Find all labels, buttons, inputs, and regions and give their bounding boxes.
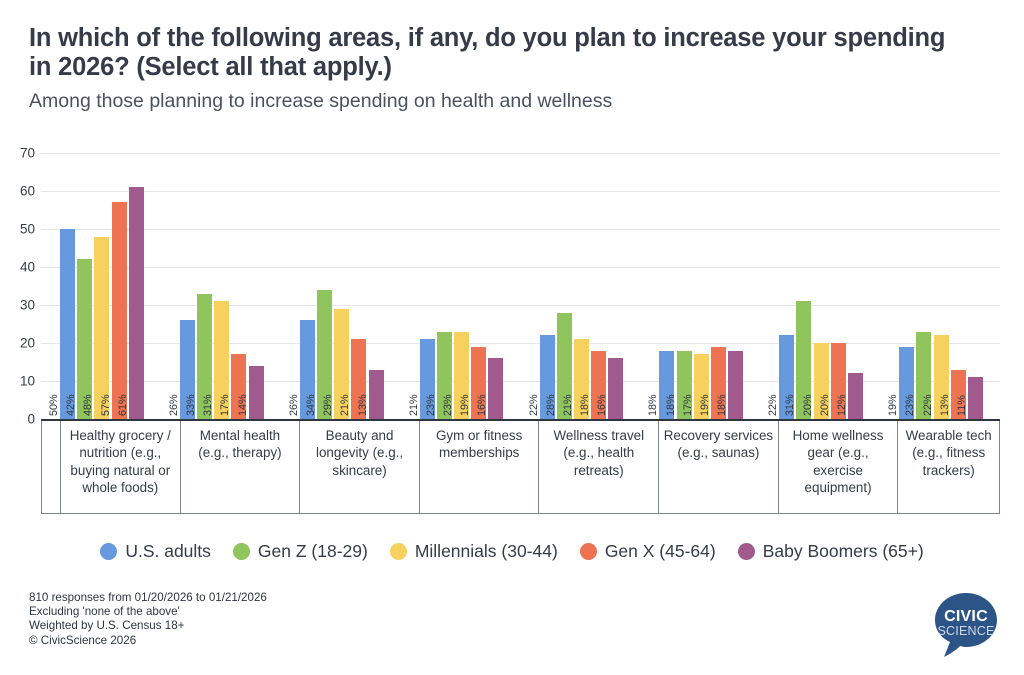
bar-value-label: 61%	[117, 394, 129, 416]
bar-value-label: 16%	[596, 394, 608, 416]
legend-label: Millennials (30-44)	[415, 541, 558, 562]
bar-value-label: 22%	[767, 394, 779, 416]
bar-value-label: 23%	[425, 394, 437, 416]
bar-value-label: 20%	[819, 394, 831, 416]
bar-value-label: 57%	[100, 394, 112, 416]
y-axis-tick-label: 0	[27, 412, 35, 427]
legend-item[interactable]: Gen X (45-64)	[580, 541, 716, 562]
y-axis: 010203040506070	[0, 0, 41, 675]
bar-value-label: 19%	[887, 394, 899, 416]
y-axis-tick-label: 40	[20, 260, 35, 275]
bar-value-label: 16%	[476, 394, 488, 416]
bar-value-label: 34%	[305, 394, 317, 416]
bar[interactable]: 11%	[968, 377, 983, 419]
footnote-copyright: © CivicScience 2026	[29, 634, 267, 648]
bar-value-label: 18%	[665, 394, 677, 416]
bar-value-label: 18%	[716, 394, 728, 416]
category-label: Beauty and longevity (e.g., skincare)	[300, 421, 420, 513]
category-label: Wearable tech (e.g., fitness trackers)	[898, 421, 999, 513]
civicscience-logo: CIVIC SCIENCE	[930, 589, 1002, 661]
bar-value-label: 22%	[922, 394, 934, 416]
bar-value-label: 23%	[442, 394, 454, 416]
bar-value-label: 31%	[784, 394, 796, 416]
legend-item[interactable]: Gen Z (18-29)	[233, 541, 368, 562]
y-axis-tick-label: 50	[20, 222, 35, 237]
bar-value-label: 26%	[288, 394, 300, 416]
footnote-excluding: Excluding 'none of the above'	[29, 605, 267, 619]
chart-footnotes: 810 responses from 01/20/2026 to 01/21/2…	[29, 591, 267, 648]
bar-group: 26%33%31%17%14%	[161, 153, 281, 419]
y-axis-tick-label: 70	[20, 146, 35, 161]
legend-color-swatch	[100, 543, 117, 560]
category-label: Home wellness gear (e.g., exercise equip…	[779, 421, 899, 513]
bar-value-label: 13%	[939, 394, 951, 416]
speech-bubble-icon: CIVIC SCIENCE	[930, 589, 1002, 661]
y-axis-tick-label: 20	[20, 336, 35, 351]
y-axis-tick-label: 10	[20, 374, 35, 389]
bar-group: 22%31%20%20%12%	[760, 153, 880, 419]
bar-value-label: 29%	[322, 394, 334, 416]
bar[interactable]: 16%	[488, 358, 503, 419]
bar-value-label: 14%	[237, 394, 249, 416]
bar[interactable]: 13%	[369, 370, 384, 419]
bar-group: 18%18%17%19%18%	[640, 153, 760, 419]
svg-text:SCIENCE: SCIENCE	[938, 624, 995, 638]
category-label: Healthy grocery / nutrition (e.g., buyin…	[61, 421, 181, 513]
bar-value-label: 50%	[48, 394, 60, 416]
legend-item[interactable]: U.S. adults	[100, 541, 211, 562]
bar-group: 21%23%23%19%16%	[401, 153, 521, 419]
legend-color-swatch	[390, 543, 407, 560]
bar-group: 19%23%22%13%11%	[880, 153, 1000, 419]
bar-value-label: 21%	[408, 394, 420, 416]
legend-color-swatch	[233, 543, 250, 560]
plot-wrapper: 010203040506070 50%42%48%57%61%26%33%31%…	[0, 0, 1024, 675]
y-axis-tick-label: 30	[20, 298, 35, 313]
bar[interactable]: 61%	[129, 187, 144, 419]
bar-value-label: 19%	[459, 394, 471, 416]
plot-area: 50%42%48%57%61%26%33%31%17%14%26%34%29%2…	[41, 153, 1000, 419]
bar-value-label: 18%	[579, 394, 591, 416]
bar-value-label: 17%	[219, 394, 231, 416]
bar-value-label: 23%	[904, 394, 916, 416]
bar-value-label: 42%	[65, 394, 77, 416]
bar-value-label: 31%	[202, 394, 214, 416]
category-label: Mental health (e.g., therapy)	[181, 421, 301, 513]
legend-label: U.S. adults	[125, 541, 211, 562]
bar-value-label: 48%	[82, 394, 94, 416]
bar-value-label: 18%	[647, 394, 659, 416]
legend-label: Gen Z (18-29)	[258, 541, 368, 562]
bar-value-label: 17%	[682, 394, 694, 416]
category-label: Gym or fitness memberships	[420, 421, 540, 513]
svg-text:CIVIC: CIVIC	[944, 608, 988, 625]
bar-group: 22%28%21%18%16%	[521, 153, 641, 419]
legend-item[interactable]: Baby Boomers (65+)	[738, 541, 924, 562]
bar[interactable]: 12%	[848, 373, 863, 419]
bar[interactable]: 14%	[249, 366, 264, 419]
bar-value-label: 13%	[357, 394, 369, 416]
legend-label: Baby Boomers (65+)	[763, 541, 924, 562]
bar-value-label: 19%	[699, 394, 711, 416]
category-label: Recovery services (e.g., saunas)	[659, 421, 779, 513]
y-axis-tick-label: 60	[20, 184, 35, 199]
bar[interactable]: 16%	[608, 358, 623, 419]
legend-color-swatch	[580, 543, 597, 560]
legend-label: Gen X (45-64)	[605, 541, 716, 562]
bar-value-label: 21%	[562, 394, 574, 416]
bar-group: 50%42%48%57%61%	[41, 153, 161, 419]
bar[interactable]: 18%	[728, 351, 743, 419]
category-label: Wellness travel (e.g., health retreats)	[539, 421, 659, 513]
bar[interactable]: 50%	[60, 229, 75, 419]
bar-value-label: 22%	[528, 394, 540, 416]
chart-legend: U.S. adultsGen Z (18-29)Millennials (30-…	[0, 541, 1024, 562]
bar-value-label: 33%	[185, 394, 197, 416]
chart-page: In which of the following areas, if any,…	[0, 0, 1024, 675]
footnote-responses: 810 responses from 01/20/2026 to 01/21/2…	[29, 591, 267, 605]
bar-value-label: 21%	[339, 394, 351, 416]
bar-value-label: 11%	[956, 395, 968, 416]
legend-color-swatch	[738, 543, 755, 560]
bar[interactable]: 48%	[94, 237, 109, 419]
bar-value-label: 12%	[836, 394, 848, 416]
bar-value-label: 26%	[168, 394, 180, 416]
footnote-weighting: Weighted by U.S. Census 18+	[29, 619, 267, 633]
bar-group: 26%34%29%21%13%	[281, 153, 401, 419]
legend-item[interactable]: Millennials (30-44)	[390, 541, 558, 562]
bar[interactable]: 57%	[112, 202, 127, 419]
bar-value-label: 28%	[545, 394, 557, 416]
bar-value-label: 20%	[802, 394, 814, 416]
category-label-table: Healthy grocery / nutrition (e.g., buyin…	[41, 421, 1000, 514]
category-cell-spacer	[42, 421, 61, 513]
